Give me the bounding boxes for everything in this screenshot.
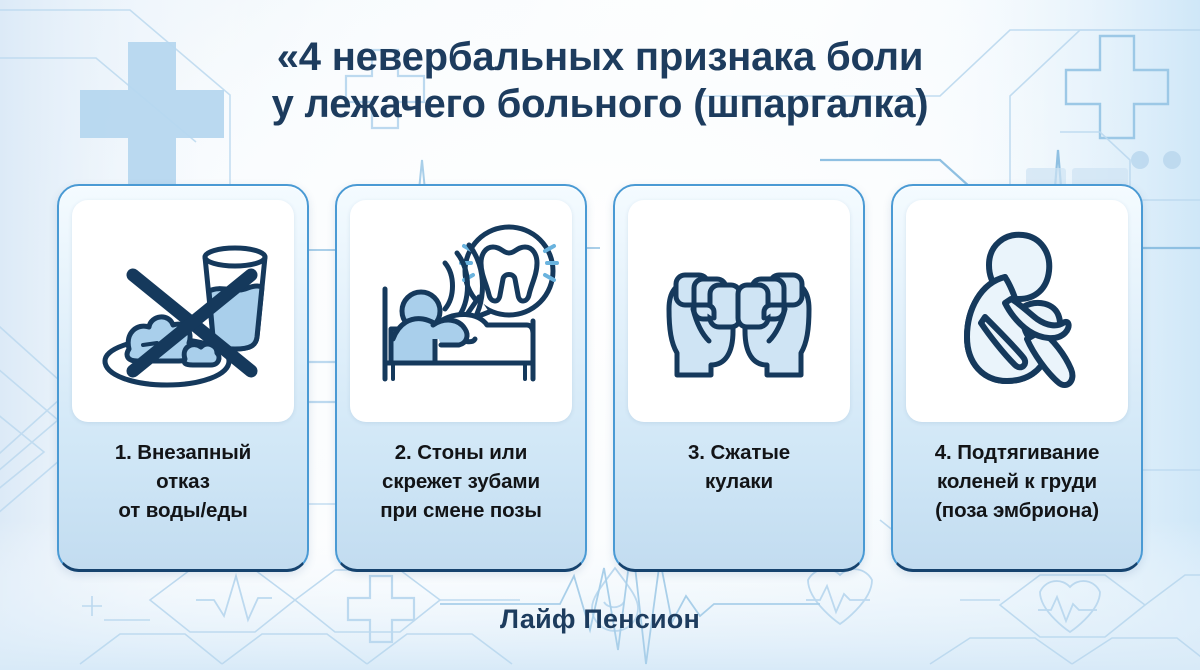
clenched-fists-icon — [641, 213, 837, 409]
title-line-2: у лежачего больного (шпаргалка) — [0, 81, 1200, 128]
caption-1-line-3: от воды/еды — [67, 496, 299, 525]
caption-4: 4. Подтягивание коленей к груди (поза эм… — [901, 438, 1133, 525]
caption-3: 3. Сжатые кулаки — [623, 438, 855, 496]
icon-panel-4 — [906, 200, 1128, 422]
icon-panel-3 — [628, 200, 850, 422]
card-2-moaning-grinding[interactable]: 2. Стоны или скрежет зубами при смене по… — [335, 184, 587, 572]
caption-4-line-2: коленей к груди — [901, 467, 1133, 496]
caption-1-line-2: отказ — [67, 467, 299, 496]
no-food-no-water-icon — [85, 213, 281, 409]
card-4-fetal-position[interactable]: 4. Подтягивание коленей к груди (поза эм… — [891, 184, 1143, 572]
caption-2: 2. Стоны или скрежет зубами при смене по… — [345, 438, 577, 525]
card-1-no-food-water[interactable]: 1. Внезапный отказ от воды/еды — [57, 184, 309, 572]
brand-label: Лайф Пенсион — [500, 604, 700, 634]
footer-brand: Лайф Пенсион — [0, 604, 1200, 635]
card-3-clenched-fists[interactable]: 3. Сжатые кулаки — [613, 184, 865, 572]
cards-row: 1. Внезапный отказ от воды/еды — [0, 184, 1200, 572]
caption-3-line-2: кулаки — [623, 467, 855, 496]
title-line-1: «4 невербальных признака боли — [0, 34, 1200, 81]
caption-1: 1. Внезапный отказ от воды/еды — [67, 438, 299, 525]
caption-2-line-1: 2. Стоны или — [345, 438, 577, 467]
infographic-canvas: «4 невербальных признака боли у лежачего… — [0, 0, 1200, 670]
caption-2-line-2: скрежет зубами — [345, 467, 577, 496]
page-title: «4 невербальных признака боли у лежачего… — [0, 34, 1200, 128]
fetal-position-icon — [919, 213, 1115, 409]
icon-panel-2 — [350, 200, 572, 422]
caption-3-line-1: 3. Сжатые — [623, 438, 855, 467]
caption-4-line-1: 4. Подтягивание — [901, 438, 1133, 467]
icon-panel-1 — [72, 200, 294, 422]
moaning-teeth-grinding-in-bed-icon — [363, 213, 559, 409]
caption-4-line-3: (поза эмбриона) — [901, 496, 1133, 525]
caption-1-line-1: 1. Внезапный — [67, 438, 299, 467]
caption-2-line-3: при смене позы — [345, 496, 577, 525]
